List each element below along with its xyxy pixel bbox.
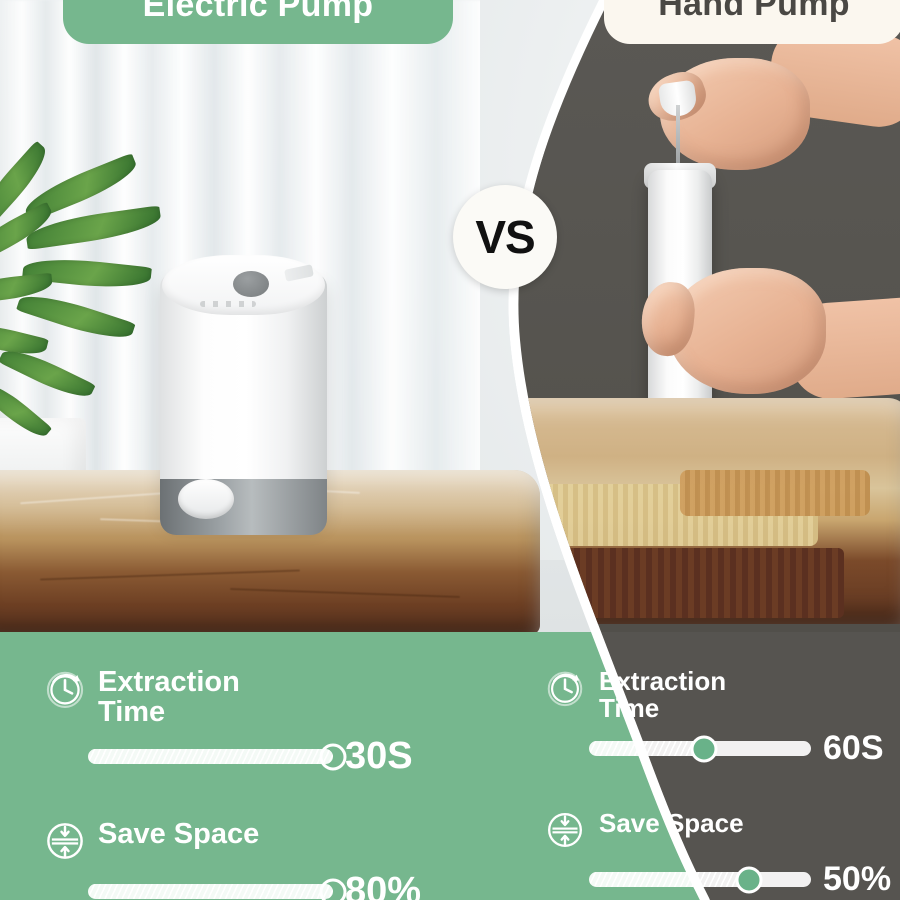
- slider-knob[interactable]: [320, 743, 347, 770]
- slider-track[interactable]: [88, 884, 333, 899]
- slider-track[interactable]: [589, 741, 811, 756]
- stat-save-space-right: Save Space 50%: [545, 810, 895, 899]
- pump-power-button: [233, 271, 269, 297]
- stat-label-line1: Extraction: [98, 666, 240, 698]
- slider-row: 50%: [589, 860, 895, 899]
- slider-row: 80%: [88, 870, 464, 900]
- stat-label-line2: Time: [599, 693, 659, 723]
- stat-value: 80%: [345, 870, 421, 900]
- stat-label: Extraction Time: [599, 668, 726, 721]
- pump-indicator-lights: [200, 301, 256, 307]
- vs-badge: VS: [453, 185, 557, 289]
- stat-value: 30S: [345, 735, 413, 778]
- pump-nozzle: [178, 479, 234, 519]
- knit-sweater-tan: [680, 470, 870, 516]
- slider-fill: [589, 741, 704, 756]
- right-title-pill: Hand Pump: [604, 0, 900, 44]
- clock-history-icon: [545, 668, 587, 710]
- stat-label-line1: Extraction: [599, 666, 726, 696]
- slider-knob[interactable]: [735, 866, 762, 893]
- clock-history-icon: [44, 668, 86, 710]
- stat-label: Save Space: [599, 810, 744, 837]
- stat-label-line1: Save Space: [599, 808, 744, 838]
- right-title-text: Hand Pump: [658, 0, 850, 24]
- stat-extraction-time-right: Extraction Time 60S: [545, 668, 895, 768]
- comparison-infographic: Electric Pump Hand Pump VS Extr: [0, 0, 900, 900]
- slider-track[interactable]: [88, 749, 333, 764]
- vs-text: VS: [475, 210, 534, 264]
- stat-label-line1: Save Space: [98, 818, 259, 850]
- slider-row: 60S: [589, 729, 895, 768]
- left-stats-list: Extraction Time 30S: [44, 668, 464, 900]
- hand-pump-rod: [676, 105, 680, 167]
- slider-fill: [88, 884, 333, 899]
- stat-value: 50%: [823, 860, 891, 899]
- left-title-text: Electric Pump: [143, 0, 374, 25]
- left-title-pill: Electric Pump: [63, 0, 453, 44]
- stat-save-space-left: Save Space 80%: [44, 820, 464, 900]
- compress-vertical-icon: [44, 820, 86, 862]
- slider-row: 30S: [88, 735, 464, 778]
- slider-knob[interactable]: [320, 878, 347, 900]
- stat-extraction-time-left: Extraction Time 30S: [44, 668, 464, 778]
- stat-label-line2: Time: [98, 696, 165, 728]
- slider-fill: [589, 872, 749, 887]
- electric-pump-device: [160, 255, 327, 535]
- stat-label: Save Space: [98, 820, 259, 850]
- stat-label: Extraction Time: [98, 668, 240, 727]
- stat-value: 60S: [823, 729, 884, 768]
- compress-vertical-icon: [545, 810, 587, 852]
- slider-track[interactable]: [589, 872, 811, 887]
- slider-knob[interactable]: [691, 735, 718, 762]
- slider-fill: [88, 749, 333, 764]
- right-stats-list: Extraction Time 60S: [545, 668, 895, 900]
